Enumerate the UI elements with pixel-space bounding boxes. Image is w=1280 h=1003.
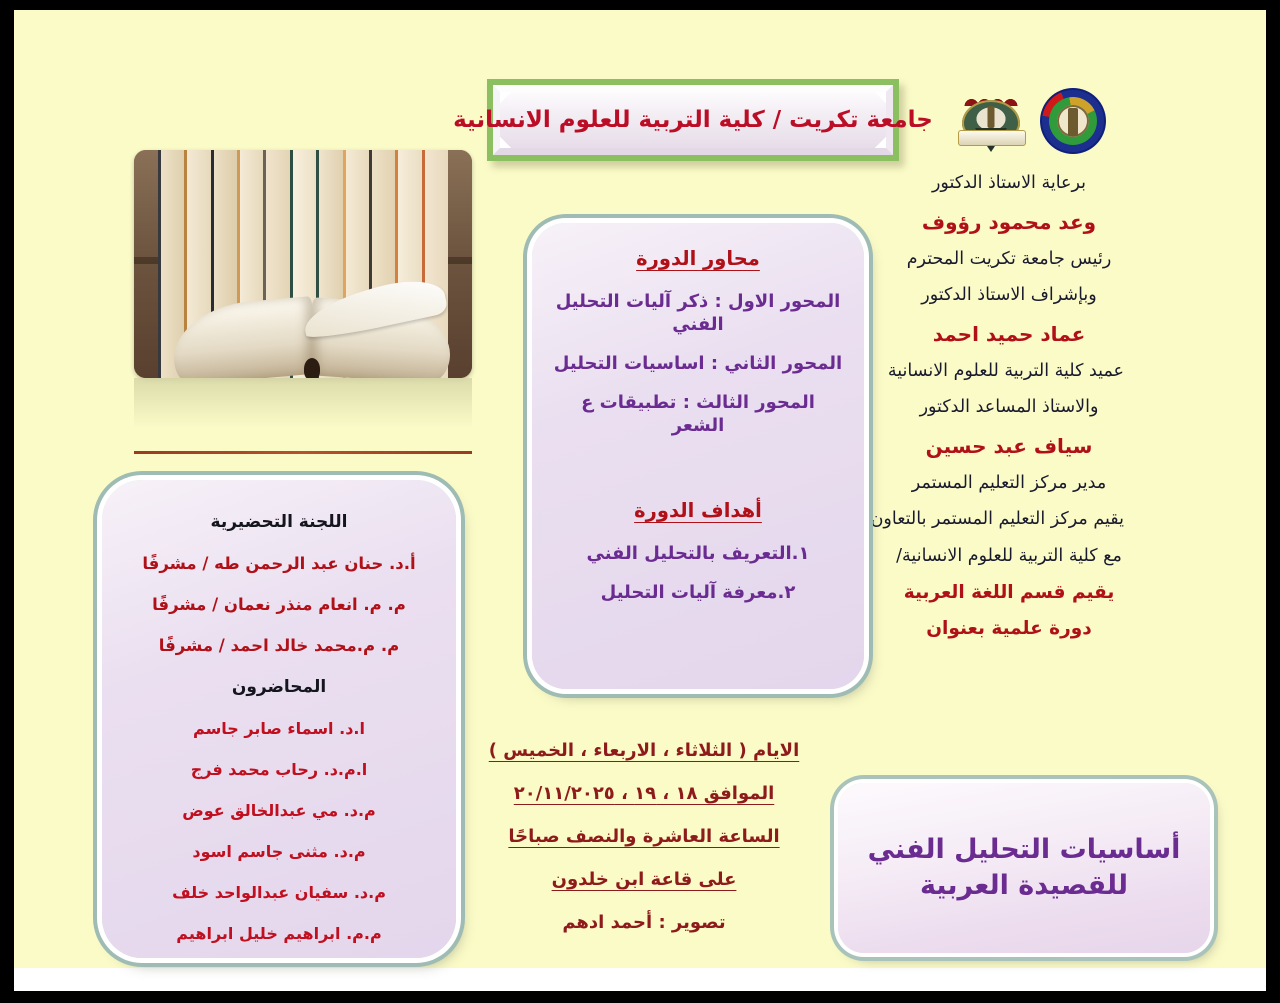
lecturer-name: م.د. مي عبدالخالق عوض [124,801,434,820]
lecturer-name: ا.د. اسماء صابر جاسم [124,719,434,738]
sponsor-name: وعد محمود رؤوف [894,212,1124,232]
course-goal-item: ٢.معرفة آليات التحليل [552,581,844,604]
schedule-block: الايام ( الثلاثاء ، الاربعاء ، الخميس ) … [484,740,804,933]
sponsor-line: برعاية الاستاذ الدكتور [894,175,1124,193]
book-page-left [174,296,312,378]
sponsors-column: برعاية الاستاذ الدكتور وعد محمود رؤوف رئ… [894,175,1124,655]
logo-group [926,82,1106,160]
lecturer-name: م.م. ابراهيم خليل ابراهيم [124,924,434,943]
header-banner-inner: جامعة تكريت / كلية التربية للعلوم الانسا… [493,85,893,155]
course-goals-title: أهداف الدورة [552,499,844,522]
course-content-card: محاور الدورة المحور الاول : ذكر آليات ال… [532,223,864,689]
schedule-venue: على قاعة ابن خلدون [484,869,804,890]
book-photo [134,150,472,378]
sponsor-line: عميد كلية التربية للعلوم الانسانية [894,363,1124,381]
course-title-line2: للقصيدة العربية [868,868,1181,904]
shield-ribbon-icon [958,130,1026,146]
header-banner: جامعة تكريت / كلية التربية للعلوم الانسا… [487,79,899,161]
palm-emblem-icon [1068,108,1078,136]
book-spine [304,358,320,378]
open-book [174,275,450,378]
ministry-logo-icon [1040,88,1106,154]
photographer-credit: تصوير : أحمد ادهم [484,912,804,933]
sponsor-highlight: دورة علمية بعنوان [894,620,1124,639]
sponsor-line: مع كلية التربية للعلوم الانسانية/ [894,548,1124,566]
schedule-time: الساعة العاشرة والنصف صباحًا [484,826,804,847]
course-axis-item: المحور الثالث : تطبيقات ع الشعر [552,391,844,437]
course-title-line1: أساسيات التحليل الفني [868,832,1181,868]
committee-member: أ.د. حنان عبد الرحمن طه / مشرفًا [124,554,434,573]
course-title-card: أساسيات التحليل الفني للقصيدة العربية [838,783,1210,953]
course-axis-item: المحور الثاني : اساسيات التحليل [552,352,844,375]
course-title-text: أساسيات التحليل الفني للقصيدة العربية [868,832,1181,905]
sponsor-highlight: يقيم قسم اللغة العربية [894,584,1124,603]
lecturer-name: م.د. سفيان عبدالواحد خلف [124,883,434,902]
sponsor-line: والاستاذ المساعد الدكتور [894,399,1124,417]
sponsor-name: عماد حميد احمد [894,324,1124,344]
schedule-dates: الموافق ١٨ ، ١٩ ، ٢٠/١١/٢٠٢٥ [484,783,804,804]
schedule-days: الايام ( الثلاثاء ، الاربعاء ، الخميس ) [484,740,804,761]
lecturer-name: م.د. مثنى جاسم اسود [124,842,434,861]
course-axes-title: محاور الدورة [552,247,844,270]
university-faculty-title: جامعة تكريت / كلية التربية للعلوم الانسا… [453,107,933,133]
poster-canvas: جامعة تكريت / كلية التربية للعلوم الانسا… [14,10,1266,968]
committee-card: اللجنة التحضيرية أ.د. حنان عبد الرحمن طه… [102,480,456,958]
spacer [552,453,844,493]
photo-reflection [134,378,472,450]
committee-heading: اللجنة التحضيرية [124,512,434,532]
sponsor-name: سياف عبد حسين [894,436,1124,456]
sponsor-line: وبإشراف الاستاذ الدكتور [894,287,1124,305]
course-goal-item: ١.التعريف بالتحليل الفني [552,542,844,565]
sponsor-line: مدير مركز التعليم المستمر [894,475,1124,493]
poster-frame: جامعة تكريت / كلية التربية للعلوم الانسا… [14,10,1266,991]
shield-palm-icon [988,106,995,128]
book-photo-block [134,150,472,460]
lecturer-name: ا.م.د. رحاب محمد فرج [124,760,434,779]
lecturers-heading: المحاضرون [124,677,434,697]
committee-member: م. م.محمد خالد احمد / مشرفًا [124,636,434,655]
sponsor-line: رئيس جامعة تكريت المحترم [894,251,1124,269]
photo-divider-rule [134,451,472,454]
course-axis-item: المحور الاول : ذكر آليات التحليل الفني [552,290,844,336]
sponsor-line: يقيم مركز التعليم المستمر بالتعاون [894,511,1124,529]
university-logo-icon [956,88,1026,154]
committee-member: م. م. انعام منذر نعمان / مشرفًا [124,595,434,614]
